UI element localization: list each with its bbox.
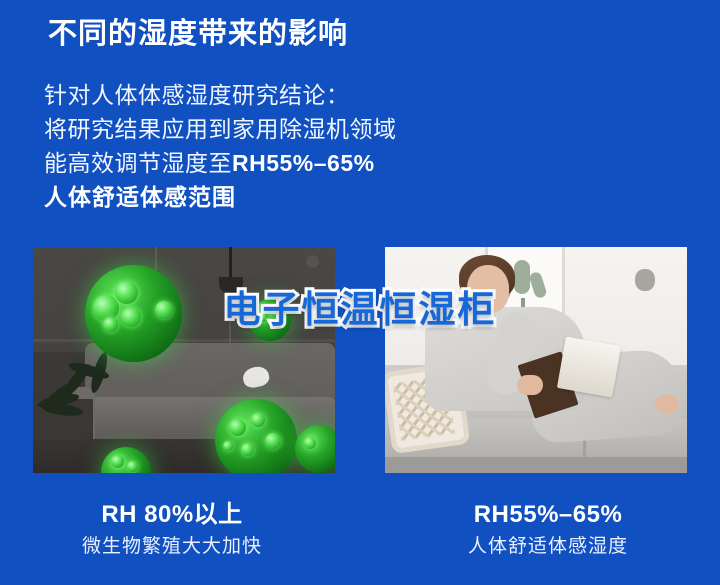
wall-knob-icon [306,255,319,268]
body-copy-line-3: 能高效调节湿度至RH55%–65% [44,146,397,180]
caption-subtitle: 微生物繁殖大大加快 [0,532,344,562]
microbe-cluster-icon [295,425,335,473]
caption-title: RH 80%以上 [0,498,344,532]
wall-knob-icon [635,269,655,291]
page-title: 不同的湿度带来的影响 [48,17,348,52]
microbe-cluster-icon [249,299,291,341]
caption-row: RH 80%以上 微生物繁殖大大加快 RH55%–65% 人体舒适体感湿度 [0,498,720,562]
photo-right-comfort-humidity [385,247,687,473]
person-head [467,265,509,313]
person-foot [655,395,679,413]
book-pages-icon [557,337,621,398]
bright-room-background [385,247,687,473]
caption-title: RH55%–65% [376,498,720,532]
caption-comfort-humidity: RH55%–65% 人体舒适体感湿度 [362,498,720,562]
body-copy-line-3-range: RH55%–65% [232,150,375,176]
pendant-lamp-icon [219,277,243,295]
person-hand [517,375,543,395]
cactus-pad-icon [528,271,547,299]
pendant-cord [229,247,232,279]
body-copy-line-2: 将研究结果应用到家用除湿机领域 [44,112,397,146]
photo-left-high-humidity [33,247,335,473]
caption-high-humidity: RH 80%以上 微生物繁殖大大加快 [0,498,362,562]
body-copy-line-1: 针对人体体感湿度研究结论： [44,78,397,112]
humidity-infographic-poster: 不同的湿度带来的影响 针对人体体感湿度研究结论： 将研究结果应用到家用除湿机领域… [0,0,720,585]
wall-shelf [33,339,335,342]
microbe-cluster-icon [215,399,297,473]
caption-subtitle: 人体舒适体感湿度 [376,532,720,562]
dark-room-background [33,247,335,473]
photo-row [0,247,720,473]
body-copy-line-3-prefix: 能高效调节湿度至 [44,150,232,176]
cactus-pad-icon [514,260,530,294]
body-copy: 针对人体体感湿度研究结论： 将研究结果应用到家用除湿机领域 能高效调节湿度至RH… [44,78,397,214]
body-copy-line-4: 人体舒适体感范围 [44,180,397,214]
microbe-cluster-icon [85,265,182,362]
sofa-base [385,457,687,473]
